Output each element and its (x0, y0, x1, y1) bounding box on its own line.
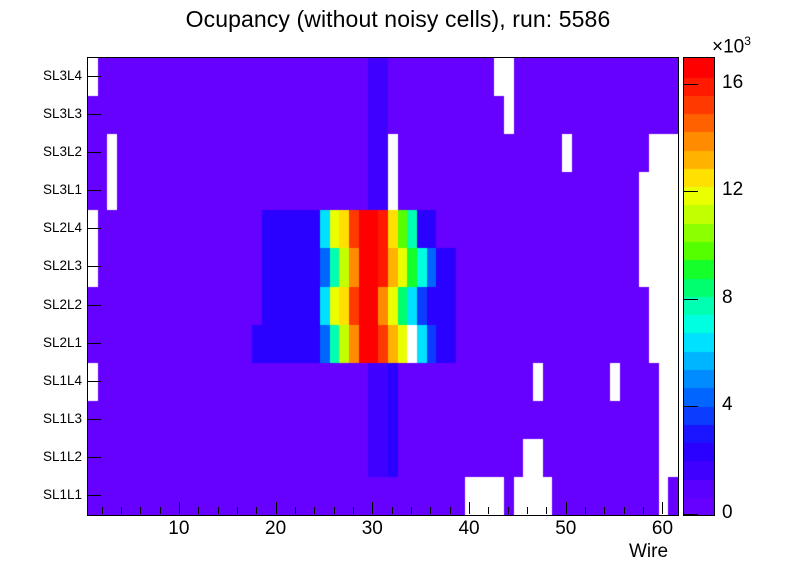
palette-tick (684, 191, 698, 192)
x-axis-major-tick (179, 502, 180, 514)
y-axis-tick-label: SL3L1 (22, 182, 82, 197)
y-axis-tick (87, 228, 101, 229)
x-axis-minor-tick (256, 507, 257, 514)
y-axis-tick (87, 495, 101, 496)
color-palette[interactable] (683, 57, 715, 516)
palette-tick-label: 0 (722, 502, 733, 524)
x-axis-minor-tick (198, 507, 199, 514)
y-axis-tick (87, 305, 101, 306)
x-axis-tick-label: 30 (342, 518, 402, 540)
y-axis-tick-label: SL2L1 (22, 335, 82, 350)
x-axis-minor-tick (643, 507, 644, 514)
x-axis-minor-tick (450, 507, 451, 514)
x-axis-minor-tick (353, 507, 354, 514)
x-axis-minor-tick (102, 507, 103, 514)
heatmap-canvas[interactable] (88, 58, 678, 515)
x-axis-minor-tick (624, 507, 625, 514)
plot-area[interactable] (87, 57, 679, 516)
x-axis-minor-tick (140, 507, 141, 514)
x-axis-minor-tick (295, 507, 296, 514)
x-axis-minor-tick (218, 507, 219, 514)
palette-tick-label: 16 (722, 72, 743, 94)
x-axis-major-tick (566, 502, 567, 514)
x-axis-minor-tick (314, 507, 315, 514)
palette-exponent-label: ×103 (712, 34, 751, 58)
x-axis-minor-tick (527, 507, 528, 514)
y-axis-tick-label: SL2L4 (22, 220, 82, 235)
y-axis-tick-label: SL3L2 (22, 144, 82, 159)
x-axis-minor-tick (585, 507, 586, 514)
x-axis-tick-label: 60 (632, 518, 692, 540)
y-axis-tick-label: SL2L2 (22, 297, 82, 312)
y-axis-tick (87, 266, 101, 267)
x-axis-minor-tick (508, 507, 509, 514)
y-axis-tick (87, 152, 101, 153)
y-axis-tick-label: SL3L4 (22, 68, 82, 83)
palette-tick-label: 4 (722, 394, 733, 416)
page-title: Ocupancy (without noisy cells), run: 558… (0, 6, 796, 33)
x-axis-major-tick (469, 502, 470, 514)
palette-tick (684, 406, 698, 407)
palette-tick (684, 84, 698, 85)
x-axis-minor-tick (392, 507, 393, 514)
y-axis-tick (87, 190, 101, 191)
x-axis-tick-label: 40 (439, 518, 499, 540)
x-axis-minor-tick (121, 507, 122, 514)
x-axis-major-tick (662, 502, 663, 514)
x-axis-minor-tick (430, 507, 431, 514)
y-axis-tick-label: SL3L3 (22, 106, 82, 121)
palette-exponent-power: 3 (744, 34, 751, 48)
palette-exponent-base: ×10 (712, 36, 744, 57)
x-axis-title: Wire (629, 541, 668, 563)
x-axis-minor-tick (334, 507, 335, 514)
y-axis-tick-label: SL1L1 (22, 487, 82, 502)
palette-tick-label: 12 (722, 179, 743, 201)
y-axis-tick (87, 419, 101, 420)
y-axis-tick (87, 76, 101, 77)
x-axis-tick-label: 10 (149, 518, 209, 540)
x-axis-minor-tick (237, 507, 238, 514)
palette-tick (684, 299, 698, 300)
y-axis-tick (87, 114, 101, 115)
y-axis-tick-label: SL1L3 (22, 411, 82, 426)
y-axis-tick (87, 457, 101, 458)
color-palette-canvas (684, 58, 714, 515)
x-axis-major-tick (276, 502, 277, 514)
x-axis-minor-tick (546, 507, 547, 514)
y-axis-tick-label: SL2L3 (22, 258, 82, 273)
x-axis-tick-label: 20 (246, 518, 306, 540)
y-axis-tick-label: SL1L2 (22, 449, 82, 464)
x-axis-minor-tick (411, 507, 412, 514)
palette-tick-label: 8 (722, 287, 733, 309)
x-axis-minor-tick (604, 507, 605, 514)
y-axis-tick-label: SL1L4 (22, 373, 82, 388)
x-axis-tick-label: 50 (536, 518, 596, 540)
x-axis-minor-tick (160, 507, 161, 514)
palette-tick (684, 514, 698, 515)
root-canvas: Ocupancy (without noisy cells), run: 558… (0, 0, 796, 572)
x-axis-minor-tick (488, 507, 489, 514)
y-axis-tick (87, 381, 101, 382)
y-axis-tick (87, 343, 101, 344)
x-axis-major-tick (372, 502, 373, 514)
